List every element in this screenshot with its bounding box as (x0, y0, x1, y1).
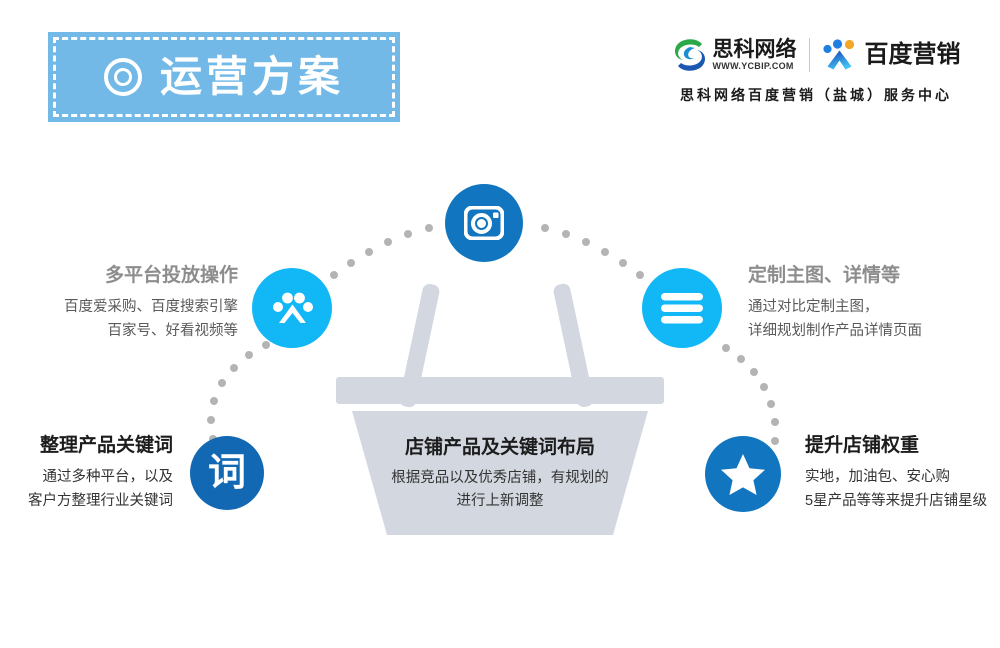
sico-logo: 思科网络 WWW.YCBIP.COM (672, 38, 797, 72)
label-right-down: 提升店铺权重 实地，加油包、安心购 5星产品等等来提升店铺星级 (805, 434, 995, 514)
logo-subtitle: 思科网络百度营销（盐城）服务中心 (656, 85, 976, 105)
baidu-name: 百度营销 (865, 43, 961, 67)
s-swirl-logo-icon (672, 38, 708, 72)
label-left-up-line-2: 百家号、好看视频等 (12, 320, 238, 344)
center-label: 店铺产品及关键词布局 根据竞品以及优秀店铺，有规划的 进行上新调整 (350, 436, 650, 513)
camera-instagram-icon (464, 206, 504, 240)
node-left-up-paw[interactable] (252, 268, 332, 348)
center-line-2: 进行上新调整 (350, 490, 650, 513)
label-left-down: 整理产品关键词 通过多种平台，以及 客户方整理行业关键词 (10, 434, 173, 514)
node-top-camera[interactable] (445, 184, 523, 262)
star-icon (721, 453, 765, 495)
label-right-down-line-2: 5星产品等等来提升店铺星级 (805, 490, 995, 514)
label-left-down-heading: 整理产品关键词 (10, 434, 173, 458)
concentric-circle-icon (104, 58, 142, 96)
page-title: 运营方案 (160, 56, 344, 98)
baidu-paw-icon (271, 289, 313, 327)
page-header: 运营方案 思科网络 WWW.YCBIP.COM (0, 0, 1000, 140)
label-right-down-line-1: 实地，加油包、安心购 (805, 466, 995, 490)
logo-divider (809, 38, 810, 72)
title-banner: 运营方案 (48, 32, 400, 122)
sico-url: WWW.YCBIP.COM (713, 62, 794, 71)
label-right-up: 定制主图、详情等 通过对比定制主图， 详细规划制作产品详情页面 (748, 264, 988, 344)
node-right-down-star[interactable] (705, 436, 781, 512)
center-heading: 店铺产品及关键词布局 (350, 436, 650, 460)
label-right-up-line-2: 详细规划制作产品详情页面 (748, 320, 988, 344)
label-left-up-line-1: 百度爱采购、百度搜索引擎 (12, 296, 238, 320)
label-right-up-heading: 定制主图、详情等 (748, 264, 988, 288)
character-ci-icon: 词 (208, 454, 246, 492)
center-line-1: 根据竞品以及优秀店铺，有规划的 (350, 467, 650, 490)
node-right-up-list[interactable] (642, 268, 722, 348)
label-right-up-line-1: 通过对比定制主图， (748, 296, 988, 320)
brand-logo-block: 思科网络 WWW.YCBIP.COM (656, 34, 976, 105)
baidu-paw-icon (822, 39, 858, 71)
hamburger-list-icon (661, 292, 703, 324)
label-right-down-heading: 提升店铺权重 (805, 434, 995, 458)
label-left-up-heading: 多平台投放操作 (12, 264, 238, 288)
label-left-down-line-1: 通过多种平台，以及 (10, 466, 173, 490)
operation-plan-diagram: 店铺产品及关键词布局 根据竞品以及优秀店铺，有规划的 进行上新调整 (0, 140, 1000, 570)
node-left-down-keyword[interactable]: 词 (190, 436, 264, 510)
label-left-down-line-2: 客户方整理行业关键词 (10, 490, 173, 514)
label-left-up: 多平台投放操作 百度爱采购、百度搜索引擎 百家号、好看视频等 (12, 264, 238, 344)
sico-name: 思科网络 (713, 39, 797, 60)
baidu-logo: 百度营销 (822, 39, 961, 71)
